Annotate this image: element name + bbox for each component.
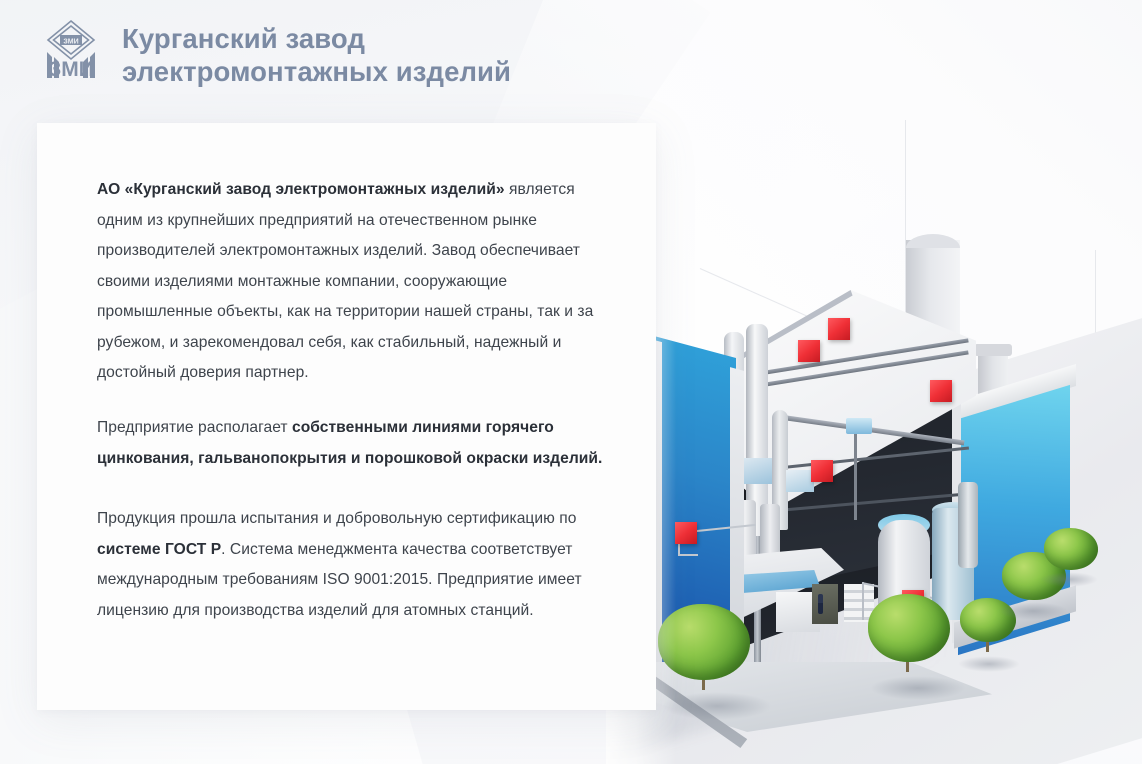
- illustration-safety-rail-post-1: [862, 582, 864, 620]
- illustration-crane-hanger: [854, 424, 857, 520]
- zmi-diamond-logo-icon: ЗМИ ЗМИ: [42, 18, 100, 92]
- tree-shadow-5: [1040, 572, 1098, 587]
- marker-cube-6: [930, 380, 952, 402]
- illustration-thin-tank: [958, 482, 978, 568]
- illustration-worker-figure: [818, 594, 823, 614]
- company-intro-text: является одним из крупнейших предприятий…: [97, 181, 593, 381]
- illustration-small-tank-2: [760, 504, 780, 560]
- marker-cube-3: [798, 340, 820, 362]
- illustration-control-panel-2: [786, 470, 814, 492]
- isometric-factory-cutaway-illustration: [606, 232, 1142, 764]
- page-title: Курганский завод электромонтажных издели…: [122, 22, 511, 88]
- company-name-bold: АО «Курганский завод электромонтажных из…: [97, 181, 505, 198]
- illustration-exhaust-stack-cap: [974, 344, 1012, 356]
- tree-crown-5: [1044, 528, 1098, 570]
- certification-lead: Продукция прошла испытания и добровольну…: [97, 510, 577, 527]
- tree-shadow-4: [998, 602, 1068, 620]
- tree-crown-2: [868, 594, 950, 662]
- paragraph-production-lines: Предприятие располагает собственными лин…: [97, 413, 616, 474]
- tree-shadow-1: [662, 692, 772, 720]
- tree-shadow-2: [870, 676, 966, 700]
- marker-cube-5: [811, 460, 833, 482]
- production-lines-lead: Предприятие располагает: [97, 419, 292, 436]
- marker-cube-4: [828, 318, 850, 340]
- illustration-connector-wire-foot: [678, 554, 698, 556]
- paragraph-certification: Продукция прошла испытания и добровольну…: [97, 504, 616, 626]
- content-card: АО «Курганский завод электромонтажных из…: [37, 123, 656, 710]
- illustration-silo-cap: [906, 234, 960, 248]
- page-header: ЗМИ ЗМИ Курганский завод электромонтажны…: [0, 0, 700, 110]
- illustration-dark-cabinet: [812, 584, 838, 624]
- tree-shadow-3: [958, 656, 1020, 672]
- marker-cube-1: [675, 522, 697, 544]
- gost-r-bold: системе ГОСТ Р: [97, 541, 221, 558]
- paragraph-company-intro: АО «Курганский завод электромонтажных из…: [97, 175, 616, 389]
- illustration-crane-hoist: [846, 418, 872, 434]
- svg-text:ЗМИ: ЗМИ: [63, 38, 78, 45]
- content-card-inner: АО «Курганский завод электромонтажных из…: [37, 123, 656, 626]
- logo-text: ЗМИ: [48, 58, 94, 81]
